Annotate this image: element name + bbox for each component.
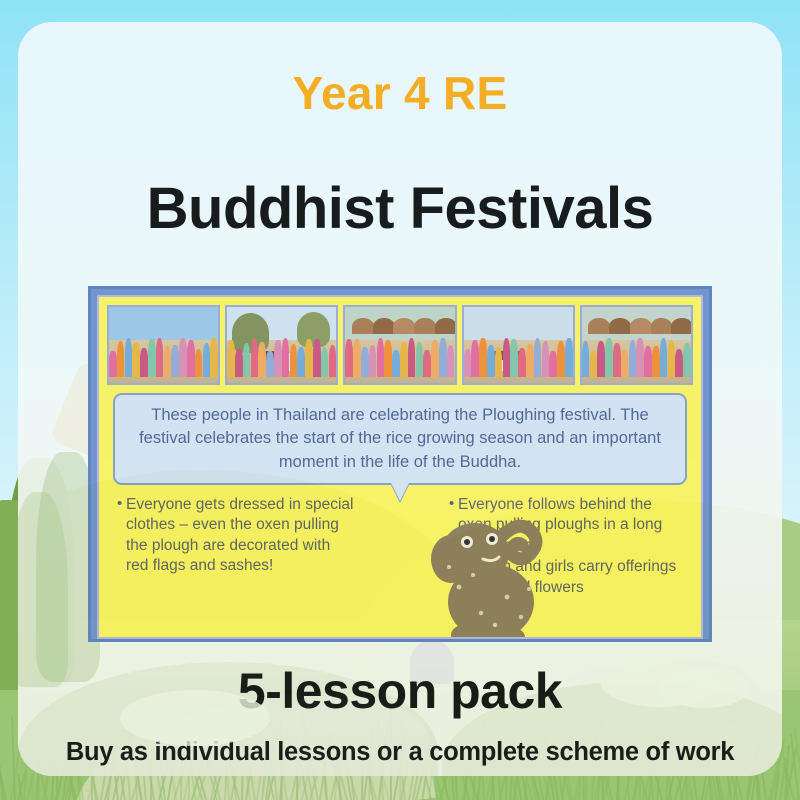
page-title: Buddhist Festivals bbox=[18, 175, 782, 242]
list-item: Everyone gets dressed in special clothes… bbox=[117, 495, 355, 577]
photo-thumbnail bbox=[462, 305, 575, 385]
photo-thumbnail bbox=[107, 305, 220, 385]
photo-thumbnail bbox=[580, 305, 693, 385]
bullet-list-left: Everyone gets dressed in special clothes… bbox=[117, 495, 355, 578]
photo-thumbnail bbox=[343, 305, 456, 385]
speech-bubble-tail bbox=[391, 483, 409, 501]
card-ghost-tree-icon bbox=[18, 492, 68, 687]
background-cloud bbox=[120, 690, 270, 746]
page-root: Year 4 RE Buddhist Festivals These peopl… bbox=[0, 0, 800, 800]
speech-bubble: These people in Thailand are celebrating… bbox=[113, 393, 687, 485]
pack-subtitle: Buy as individual lessons or a complete … bbox=[18, 738, 782, 767]
elephant-icon bbox=[429, 497, 559, 639]
subject-label: Year 4 RE bbox=[18, 66, 782, 120]
photo-thumbnail bbox=[225, 305, 338, 385]
photo-strip bbox=[107, 305, 693, 385]
grass-blade bbox=[455, 773, 458, 800]
slide-preview[interactable]: These people in Thailand are celebrating… bbox=[88, 286, 712, 642]
background-cloud bbox=[660, 668, 750, 708]
slide-canvas: These people in Thailand are celebrating… bbox=[97, 295, 703, 639]
